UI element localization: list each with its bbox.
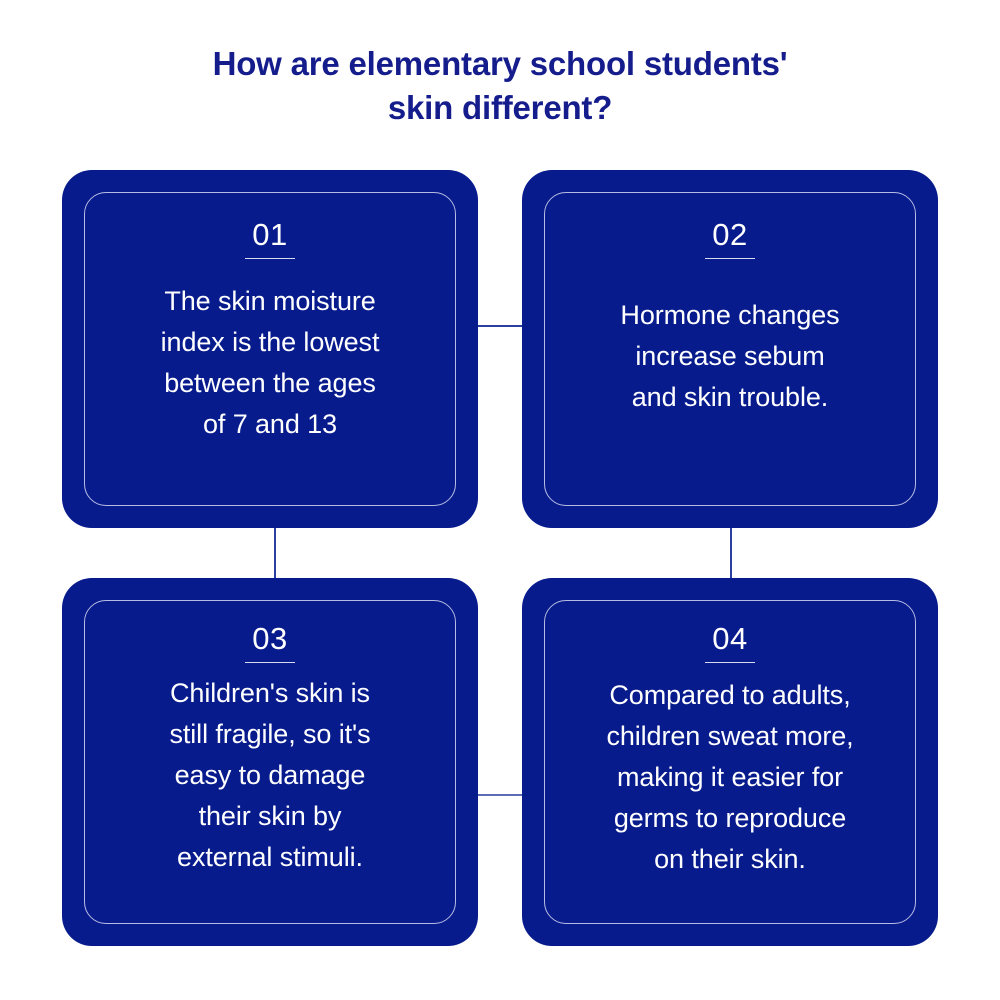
card-03-inner-frame: 03 Children's skin is still fragile, so … [84,600,456,924]
card-02-text: Hormone changes increase sebum and skin … [620,295,839,418]
infographic-root: How are elementary school students' skin… [0,0,1000,1000]
connector-card2-card4 [730,528,732,578]
card-01[interactable]: 01 The skin moisture index is the lowest… [62,170,478,528]
card-02-number: 02 [705,217,754,259]
card-01-text: The skin moisture index is the lowest be… [161,281,380,445]
card-03-number: 03 [245,621,294,663]
card-04-number: 04 [705,621,754,663]
page-title-line-2: skin different? [80,86,920,130]
card-03-text: Children's skin is still fragile, so it'… [169,673,370,878]
connector-card3-card4 [478,794,522,796]
card-01-inner-frame: 01 The skin moisture index is the lowest… [84,192,456,506]
card-04[interactable]: 04 Compared to adults, children sweat mo… [522,578,938,946]
connector-card1-card3 [274,528,276,578]
connector-card1-card2 [478,325,522,327]
page-title: How are elementary school students' skin… [80,42,920,130]
page-title-line-1: How are elementary school students' [80,42,920,86]
card-02-inner-frame: 02 Hormone changes increase sebum and sk… [544,192,916,506]
card-01-number: 01 [245,217,294,259]
card-04-text: Compared to adults, children sweat more,… [606,675,853,880]
card-03[interactable]: 03 Children's skin is still fragile, so … [62,578,478,946]
card-02[interactable]: 02 Hormone changes increase sebum and sk… [522,170,938,528]
card-04-inner-frame: 04 Compared to adults, children sweat mo… [544,600,916,924]
